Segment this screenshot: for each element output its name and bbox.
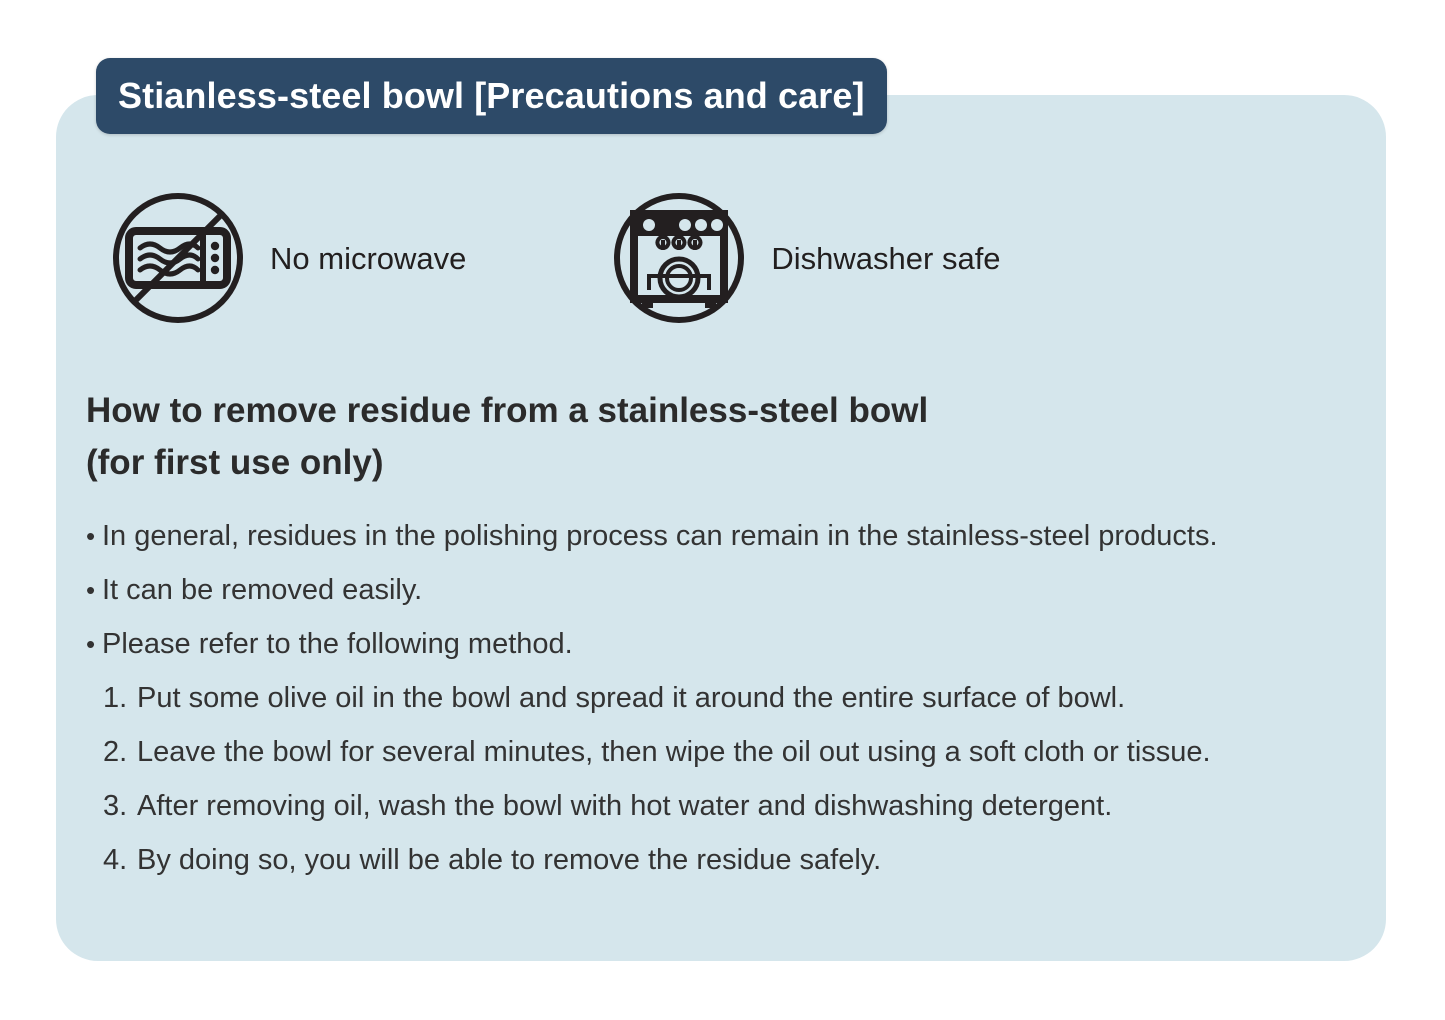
step-item: 3.After removing oil, wash the bowl with… <box>86 779 1376 833</box>
step-number: 3. <box>103 779 137 833</box>
bullet-item: •Please refer to the following method. <box>86 617 1376 671</box>
precautions-and-care-page: Stianless-steel bowl [Precautions and ca… <box>0 0 1445 1020</box>
bullet-item: •In general, residues in the polishing p… <box>86 509 1376 563</box>
bullet-list: •In general, residues in the polishing p… <box>86 509 1376 671</box>
title-badge: Stianless-steel bowl [Precautions and ca… <box>96 58 887 134</box>
bullet-marker: • <box>86 563 102 617</box>
bullet-text: In general, residues in the polishing pr… <box>102 520 1218 552</box>
step-text: By doing so, you will be able to remove … <box>137 844 881 876</box>
step-text: After removing oil, wash the bowl with h… <box>137 790 1112 822</box>
step-item: 1.Put some olive oil in the bowl and spr… <box>86 671 1376 725</box>
icon-item-dishwasher-safe: Dishwasher safe <box>611 190 1000 326</box>
dishwasher-safe-icon <box>611 190 747 326</box>
care-instructions: How to remove residue from a stainless-s… <box>86 385 1376 887</box>
step-text: Put some olive oil in the bowl and sprea… <box>137 682 1125 714</box>
bullet-text: It can be removed easily. <box>102 574 422 606</box>
step-text: Leave the bowl for several minutes, then… <box>137 736 1211 768</box>
section-heading-line-2: (for first use only) <box>86 437 1376 489</box>
step-number: 4. <box>103 833 137 887</box>
bullet-marker: • <box>86 617 102 671</box>
icon-label-dishwasher-safe: Dishwasher safe <box>771 243 1000 274</box>
step-number: 2. <box>103 725 137 779</box>
step-item: 4.By doing so, you will be able to remov… <box>86 833 1376 887</box>
step-list: 1.Put some olive oil in the bowl and spr… <box>86 671 1376 887</box>
step-number: 1. <box>103 671 137 725</box>
bullet-text: Please refer to the following method. <box>102 628 573 660</box>
icon-label-no-microwave: No microwave <box>270 243 466 274</box>
icon-item-no-microwave: No microwave <box>110 190 466 326</box>
section-heading-line-1: How to remove residue from a stainless-s… <box>86 385 1376 437</box>
bullet-item: •It can be removed easily. <box>86 563 1376 617</box>
page-title: Stianless-steel bowl [Precautions and ca… <box>118 78 865 114</box>
step-item: 2.Leave the bowl for several minutes, th… <box>86 725 1376 779</box>
icon-row: No microwave <box>110 190 1001 326</box>
bullet-marker: • <box>86 509 102 563</box>
no-microwave-icon <box>110 190 246 326</box>
